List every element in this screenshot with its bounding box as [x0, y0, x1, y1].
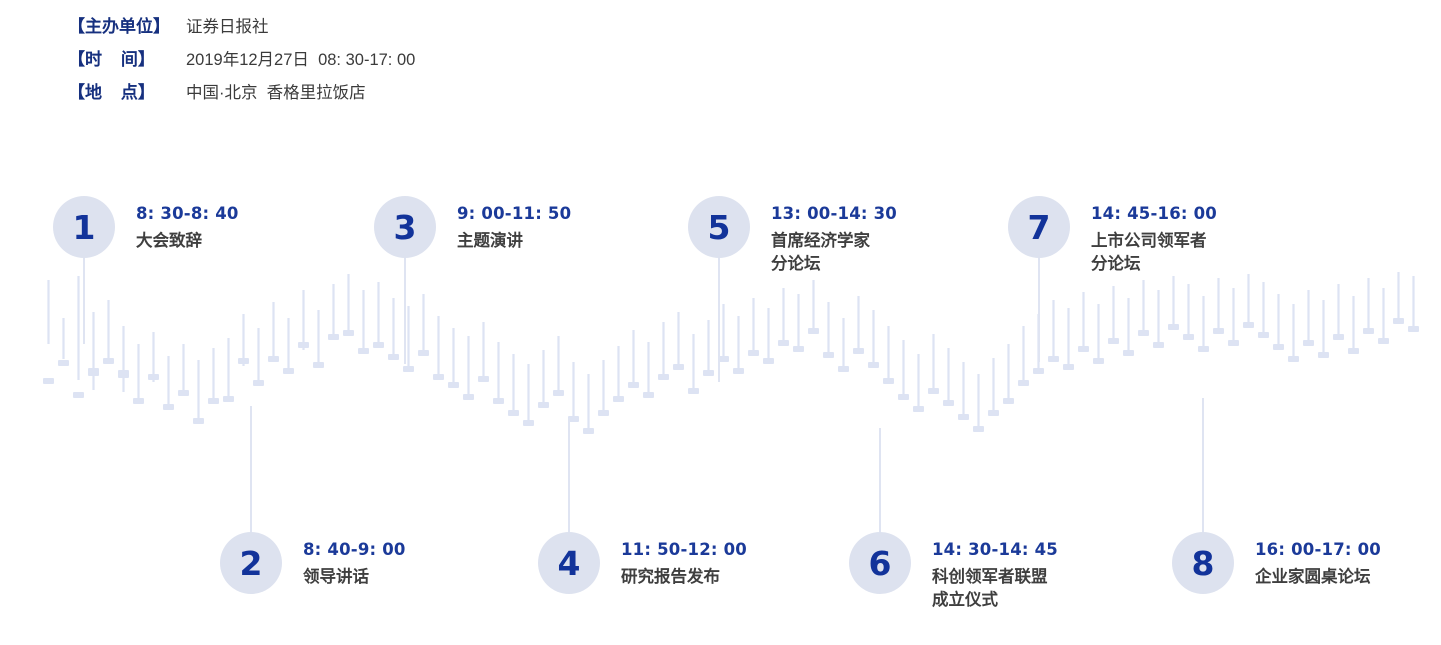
timeline-session-title: 主题演讲: [457, 230, 571, 253]
candle: [358, 290, 369, 354]
timeline-connector-line: [718, 256, 720, 382]
timeline-time-label: 8: 40-9: 00: [303, 540, 406, 559]
info-row-organizer: 【主办单位】 证券日报社: [68, 12, 415, 37]
candle: [688, 334, 699, 394]
candle: [433, 316, 444, 380]
candle: [313, 310, 324, 368]
candle: [1108, 286, 1119, 344]
candle: [1408, 276, 1419, 332]
timeline-number-badge[interactable]: 5: [688, 196, 750, 258]
candle: [1348, 296, 1359, 354]
candle: [568, 362, 579, 422]
timeline-connector-line: [83, 256, 85, 344]
candle: [1273, 294, 1284, 350]
timeline-time-label: 8: 30-8: 40: [136, 204, 239, 223]
candle: [58, 318, 69, 366]
candle: [1213, 278, 1224, 334]
candle: [733, 316, 744, 374]
info-row-time: 【时 间】 2019年12月27日 08: 30-17: 00: [68, 45, 415, 70]
candle: [748, 298, 759, 356]
timeline-session-title: 研究报告发布: [621, 566, 747, 589]
timeline-session-title: 大会致辞: [136, 230, 239, 253]
candle: [673, 312, 684, 370]
candle: [763, 308, 774, 364]
candle: [133, 344, 144, 404]
candle: [1303, 290, 1314, 346]
candle: [583, 374, 594, 434]
candle: [628, 330, 639, 388]
candle: [388, 298, 399, 360]
candle: [418, 294, 429, 356]
timeline-connector-line: [568, 418, 570, 536]
candle: [793, 294, 804, 352]
timeline-connector-line: [250, 406, 252, 536]
timeline-number-badge[interactable]: 8: [1172, 532, 1234, 594]
info-value-organizer: 证券日报社: [186, 13, 269, 37]
info-value-location: 中国·北京 香格里拉饭店: [186, 79, 366, 103]
candle: [283, 318, 294, 374]
candle: [1378, 288, 1389, 344]
timeline-number-badge[interactable]: 4: [538, 532, 600, 594]
candle: [988, 358, 999, 416]
timeline-number-badge[interactable]: 2: [220, 532, 282, 594]
timeline-time-label: 16: 00-17: 00: [1255, 540, 1381, 559]
candle: [478, 322, 489, 382]
candle: [1288, 304, 1299, 362]
candle: [553, 336, 564, 396]
timeline-number-label: 6: [869, 547, 892, 580]
timeline-number-label: 2: [240, 547, 263, 580]
candle: [928, 334, 939, 394]
candle: [268, 302, 279, 362]
candle: [658, 322, 669, 380]
candle: [823, 302, 834, 358]
timeline-time-label: 14: 30-14: 45: [932, 540, 1058, 559]
candle: [958, 362, 969, 420]
timeline-text-block: 13: 00-14: 30首席经济学家 分论坛: [771, 204, 897, 276]
info-label-organizer: 【主办单位】: [68, 12, 186, 37]
candle: [1333, 284, 1344, 340]
candle: [1048, 300, 1059, 362]
timeline-number-badge[interactable]: 3: [374, 196, 436, 258]
candle: [1168, 276, 1179, 330]
candle: [253, 328, 264, 386]
timeline-text-block: 11: 50-12: 00研究报告发布: [621, 540, 747, 589]
candle: [178, 344, 189, 396]
timeline-number-badge[interactable]: 7: [1008, 196, 1070, 258]
timeline-number-label: 1: [73, 211, 96, 244]
candle: [703, 320, 714, 376]
timeline-text-block: 16: 00-17: 00企业家圆桌论坛: [1255, 540, 1381, 589]
timeline-connector-line: [879, 428, 881, 536]
candle: [613, 346, 624, 402]
candle: [298, 290, 309, 350]
candle: [223, 338, 234, 402]
candle: [1183, 284, 1194, 340]
candle: [448, 328, 459, 388]
candle: [808, 280, 819, 334]
timeline-number-label: 5: [708, 211, 731, 244]
candle: [373, 282, 384, 348]
timeline-number-label: 8: [1192, 547, 1215, 580]
timeline-number-badge[interactable]: 6: [849, 532, 911, 594]
candle: [508, 354, 519, 416]
timeline-time-label: 14: 45-16: 00: [1091, 204, 1217, 223]
candle: [1228, 288, 1239, 346]
candle: [1078, 292, 1089, 352]
candle: [883, 326, 894, 384]
timeline-time-label: 11: 50-12: 00: [621, 540, 747, 559]
candle: [43, 280, 54, 384]
info-row-location: 【地 点】 中国·北京 香格里拉饭店: [68, 78, 415, 103]
timeline-number-label: 3: [394, 211, 417, 244]
timeline-text-block: 9: 00-11: 50主题演讲: [457, 204, 571, 253]
candle: [838, 318, 849, 372]
timeline-number-badge[interactable]: 1: [53, 196, 115, 258]
candle: [1138, 280, 1149, 336]
candle: [1363, 278, 1374, 334]
timeline-text-block: 14: 45-16: 00上市公司领军者 分论坛: [1091, 204, 1217, 276]
timeline-session-title: 领导讲话: [303, 566, 406, 589]
timeline-time-label: 9: 00-11: 50: [457, 204, 571, 223]
candle: [1018, 326, 1029, 386]
candle: [193, 360, 204, 424]
candle: [1318, 300, 1329, 358]
candlestick-chart: [0, 270, 1441, 510]
candle: [148, 332, 159, 382]
event-info-block: 【主办单位】 证券日报社 【时 间】 2019年12月27日 08: 30-17…: [68, 12, 415, 103]
candle: [1093, 304, 1104, 364]
candle: [118, 326, 129, 392]
candle: [913, 354, 924, 412]
timeline-session-title: 上市公司领军者 分论坛: [1091, 230, 1217, 276]
timeline-connector-line: [1202, 398, 1204, 536]
timeline-session-title: 科创领军者联盟 成立仪式: [932, 566, 1058, 612]
candle: [1198, 296, 1209, 352]
candle: [1063, 308, 1074, 370]
candle: [1258, 282, 1269, 338]
info-label-time: 【时 间】: [68, 45, 186, 70]
info-value-time: 2019年12月27日 08: 30-17: 00: [186, 46, 415, 70]
candle: [778, 288, 789, 346]
timeline-text-block: 8: 30-8: 40大会致辞: [136, 204, 239, 253]
timeline-session-title: 首席经济学家 分论坛: [771, 230, 897, 276]
candle: [238, 314, 249, 366]
candle: [1153, 290, 1164, 348]
candle: [1003, 344, 1014, 404]
timeline-session-title: 企业家圆桌论坛: [1255, 566, 1381, 589]
timeline-time-label: 13: 00-14: 30: [771, 204, 897, 223]
candle: [1393, 272, 1404, 324]
timeline-number-label: 4: [558, 547, 581, 580]
candlestick-svg: [0, 270, 1441, 510]
candle: [463, 336, 474, 400]
candle: [1243, 274, 1254, 328]
timeline-connector-line: [404, 256, 406, 364]
candle: [868, 310, 879, 368]
candle: [103, 300, 114, 364]
candle: [943, 348, 954, 406]
candle: [208, 348, 219, 404]
candle: [538, 350, 549, 408]
candle: [493, 342, 504, 404]
timeline-text-block: 8: 40-9: 00领导讲话: [303, 540, 406, 589]
candle: [1123, 298, 1134, 356]
candle: [973, 374, 984, 432]
candle: [328, 284, 339, 340]
candle: [343, 274, 354, 336]
candle: [598, 360, 609, 416]
info-label-location: 【地 点】: [68, 78, 186, 103]
candle: [523, 364, 534, 426]
candle: [898, 340, 909, 400]
candle: [88, 312, 99, 390]
candle: [163, 356, 174, 410]
timeline-text-block: 14: 30-14: 45科创领军者联盟 成立仪式: [932, 540, 1058, 612]
timeline-connector-line: [1038, 256, 1040, 362]
timeline-number-label: 7: [1028, 211, 1051, 244]
candle: [853, 296, 864, 354]
candle: [643, 342, 654, 398]
